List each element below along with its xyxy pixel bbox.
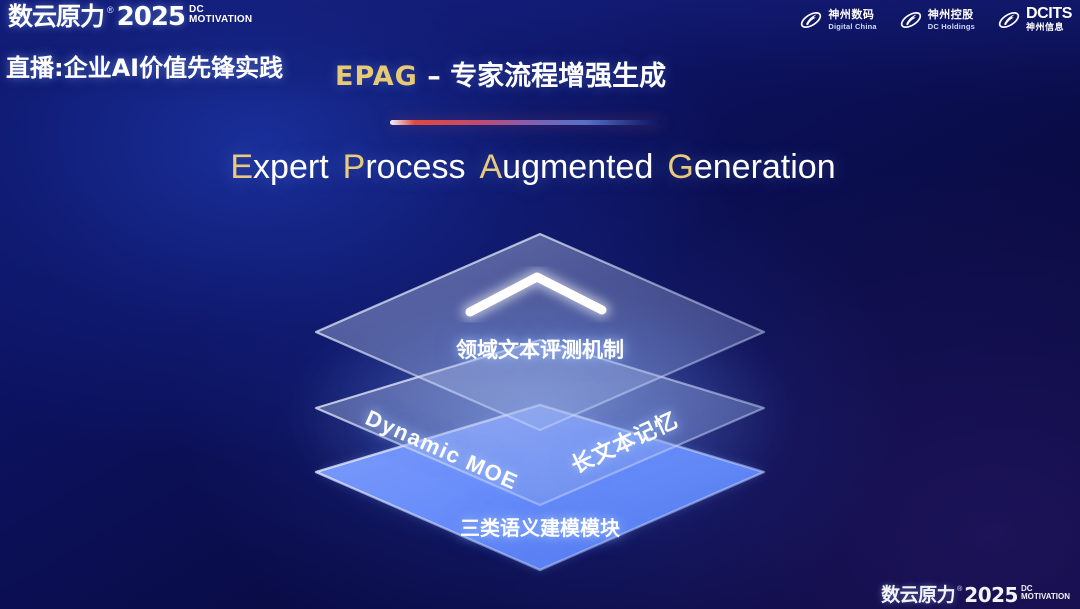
headline-capital: P	[343, 148, 366, 186]
partner-logo-digital-china: 神州数码 Digital China	[799, 8, 876, 32]
brand-name-cn: 数云原力	[8, 4, 104, 30]
footer-watermark: 数云原力 ® 2025 DC MOTIVATION	[881, 585, 1070, 605]
watermark-tagline: DC MOTIVATION	[1021, 585, 1070, 601]
page-title-subtitle: – 专家流程增强生成	[427, 61, 666, 92]
swirl-logo-icon	[997, 8, 1021, 32]
watermark-registered-mark: ®	[957, 585, 962, 594]
headline-word-4: Generation	[667, 148, 835, 186]
partner-logo-dcits: DCITS 神州信息	[997, 6, 1072, 33]
layer-top-shape	[316, 234, 764, 430]
headline-word-2: Process	[343, 148, 466, 186]
brand-registered-mark: ®	[107, 4, 114, 16]
live-session-label: 直播:企业AI价值先锋实践	[6, 48, 283, 83]
headline-capital: G	[667, 148, 693, 186]
watermark-motivation-label: MOTIVATION	[1021, 592, 1070, 601]
brand-tagline: DC MOTIVATION	[189, 5, 252, 25]
headline-capital: A	[479, 148, 502, 186]
headline-rest: rocess	[365, 148, 465, 186]
headline-expansion: ExpertProcessAugmentedGeneration	[0, 148, 1080, 187]
partner-name-cn: 神州控股	[928, 9, 975, 20]
headline-rest: eneration	[694, 148, 836, 186]
headline-word-1: Expert	[230, 148, 328, 186]
partner-logo-dc-holdings: 神州控股 DC Holdings	[899, 8, 975, 32]
brand-year: 2025	[117, 4, 185, 30]
layer-bottom-label: 三类语义建模模块	[0, 512, 1080, 541]
swirl-logo-icon	[799, 8, 823, 32]
headline-word-3: Augmented	[479, 148, 653, 186]
partner-name-cn: 神州信息	[1026, 24, 1072, 33]
headline-capital: E	[230, 148, 253, 186]
partner-logo-text: 神州控股 DC Holdings	[928, 9, 975, 30]
partner-logo-text: DCITS 神州信息	[1026, 6, 1072, 33]
headline-rest: xpert	[253, 148, 329, 186]
layer-bottom-shape	[316, 405, 764, 570]
page-title-acronym: EPAG	[335, 61, 418, 92]
partner-name-en: Digital China	[828, 23, 876, 31]
page-title: EPAG – 专家流程增强生成	[335, 54, 666, 93]
watermark-name-cn: 数云原力	[881, 585, 955, 605]
layer-middle-label-right: 长文本记忆	[565, 402, 683, 480]
partner-logo-group: 神州数码 Digital China 神州控股 DC Holdings	[799, 6, 1072, 33]
partner-logo-text: 神州数码 Digital China	[828, 9, 876, 30]
chevron-up-icon	[470, 277, 602, 312]
headline-rest: ugmented	[502, 148, 653, 186]
layer-middle-shape	[316, 340, 764, 505]
brand-dc-label: DC	[189, 5, 252, 14]
layer-top-label: 领域文本评测机制	[0, 334, 1080, 364]
brand-motivation-label: MOTIVATION	[189, 14, 252, 25]
swirl-logo-icon	[899, 8, 923, 32]
gradient-divider	[390, 120, 662, 125]
partner-name-en: DC Holdings	[928, 23, 975, 31]
layer-middle-label-left: Dynamic MOE	[361, 405, 522, 496]
brand-logo: 数云原力 ® 2025 DC MOTIVATION	[8, 4, 252, 30]
slide-canvas: 数云原力 ® 2025 DC MOTIVATION 直播:企业AI价值先锋实践 …	[0, 0, 1080, 609]
watermark-year: 2025	[964, 585, 1018, 605]
watermark-dc-label: DC	[1021, 585, 1070, 592]
partner-name-cn: 神州数码	[828, 9, 876, 20]
partner-name-en: DCITS	[1026, 6, 1072, 22]
